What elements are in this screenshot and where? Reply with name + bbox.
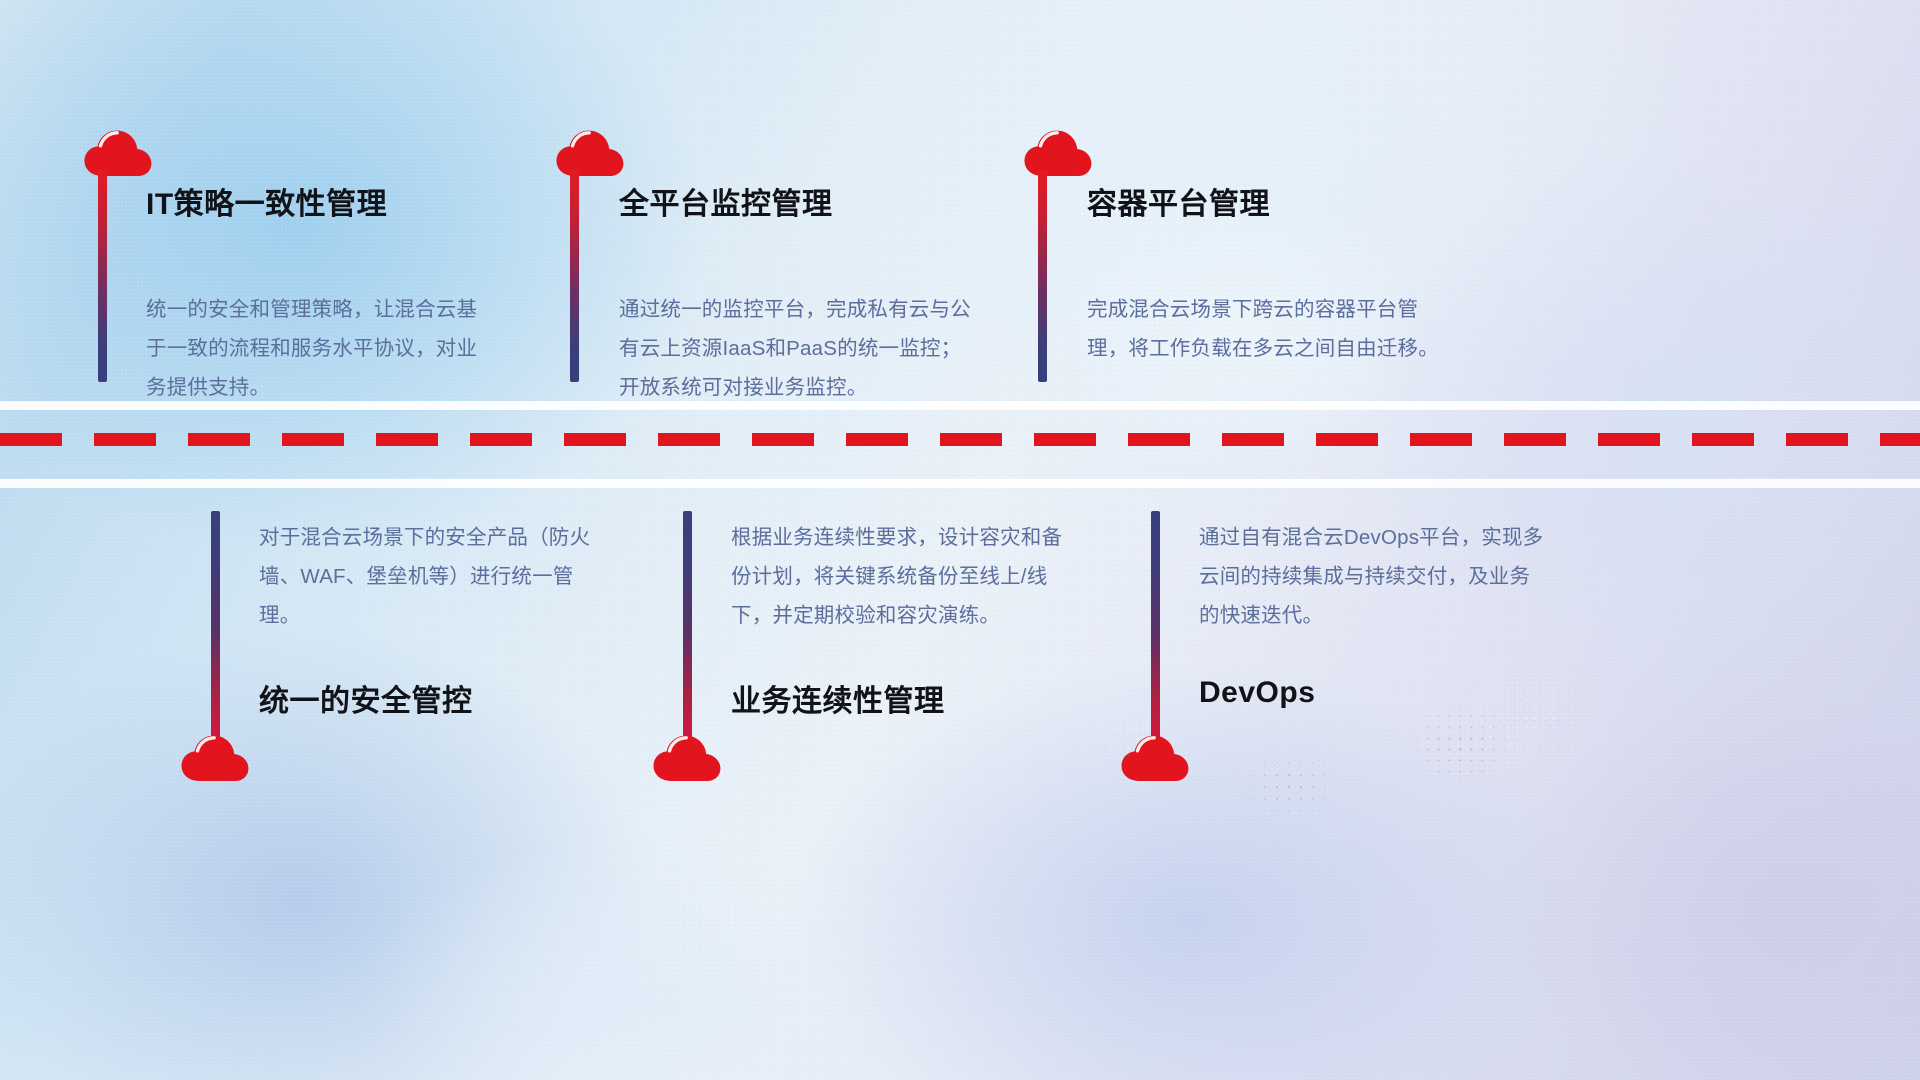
card-body: 通过统一的监控平台，完成私有云与公有云上资源IaaS和PaaS的统一监控；开放系… [619,290,979,407]
cloud-pin-icon [1121,735,1189,783]
connector-line [570,170,579,382]
card-title: IT策略一致性管理 [146,179,387,223]
cloud-pin-icon [1024,130,1092,178]
connector-line [98,170,107,382]
cloud-pin-icon [84,130,152,178]
card-title: 统一的安全管控 [259,676,473,720]
divider-rule-upper [0,401,1920,410]
background-bloom [250,760,1010,1080]
card-body: 完成混合云场景下跨云的容器平台管理，将工作负载在多云之间自由迁移。 [1087,290,1442,368]
divider-rule-lower [0,479,1920,488]
card-title: 业务连续性管理 [731,676,945,720]
card-body: 统一的安全和管理策略，让混合云基于一致的流程和服务水平协议，对业务提供支持。 [146,290,496,407]
card-body: 对于混合云场景下的安全产品（防火墙、WAF、堡垒机等）进行统一管理。 [259,518,609,635]
section-divider [0,401,1920,492]
cloud-pin-icon [181,735,249,783]
card-body: 通过自有混合云DevOps平台，实现多云间的持续集成与持续交付，及业务的快速迭代… [1199,518,1549,635]
card-title: DevOps [1199,676,1315,710]
cloud-pin-icon [653,735,721,783]
infographic-canvas: IT策略一致性管理 统一的安全和管理策略，让混合云基于一致的流程和服务水平协议，… [0,0,1920,1080]
background-bloom [1380,600,1920,1080]
connector-line [1038,170,1047,382]
decorative-dot-cluster-red [1235,745,1345,825]
background-bloom [640,560,1740,1080]
card-title: 全平台监控管理 [619,179,833,223]
card-body: 根据业务连续性要求，设计容灾和备份计划，将关键系统备份至线上/线下，并定期校验和… [731,518,1076,635]
cloud-pin-icon [556,130,624,178]
connector-line [211,511,220,743]
connector-line [683,511,692,743]
decorative-dot-cluster [1450,660,1610,780]
decorative-dot-cluster-red [1400,700,1520,790]
decorative-dot-cluster [620,860,820,990]
divider-dashed-line [0,433,1920,446]
connector-line [1151,511,1160,743]
card-title: 容器平台管理 [1087,179,1270,223]
